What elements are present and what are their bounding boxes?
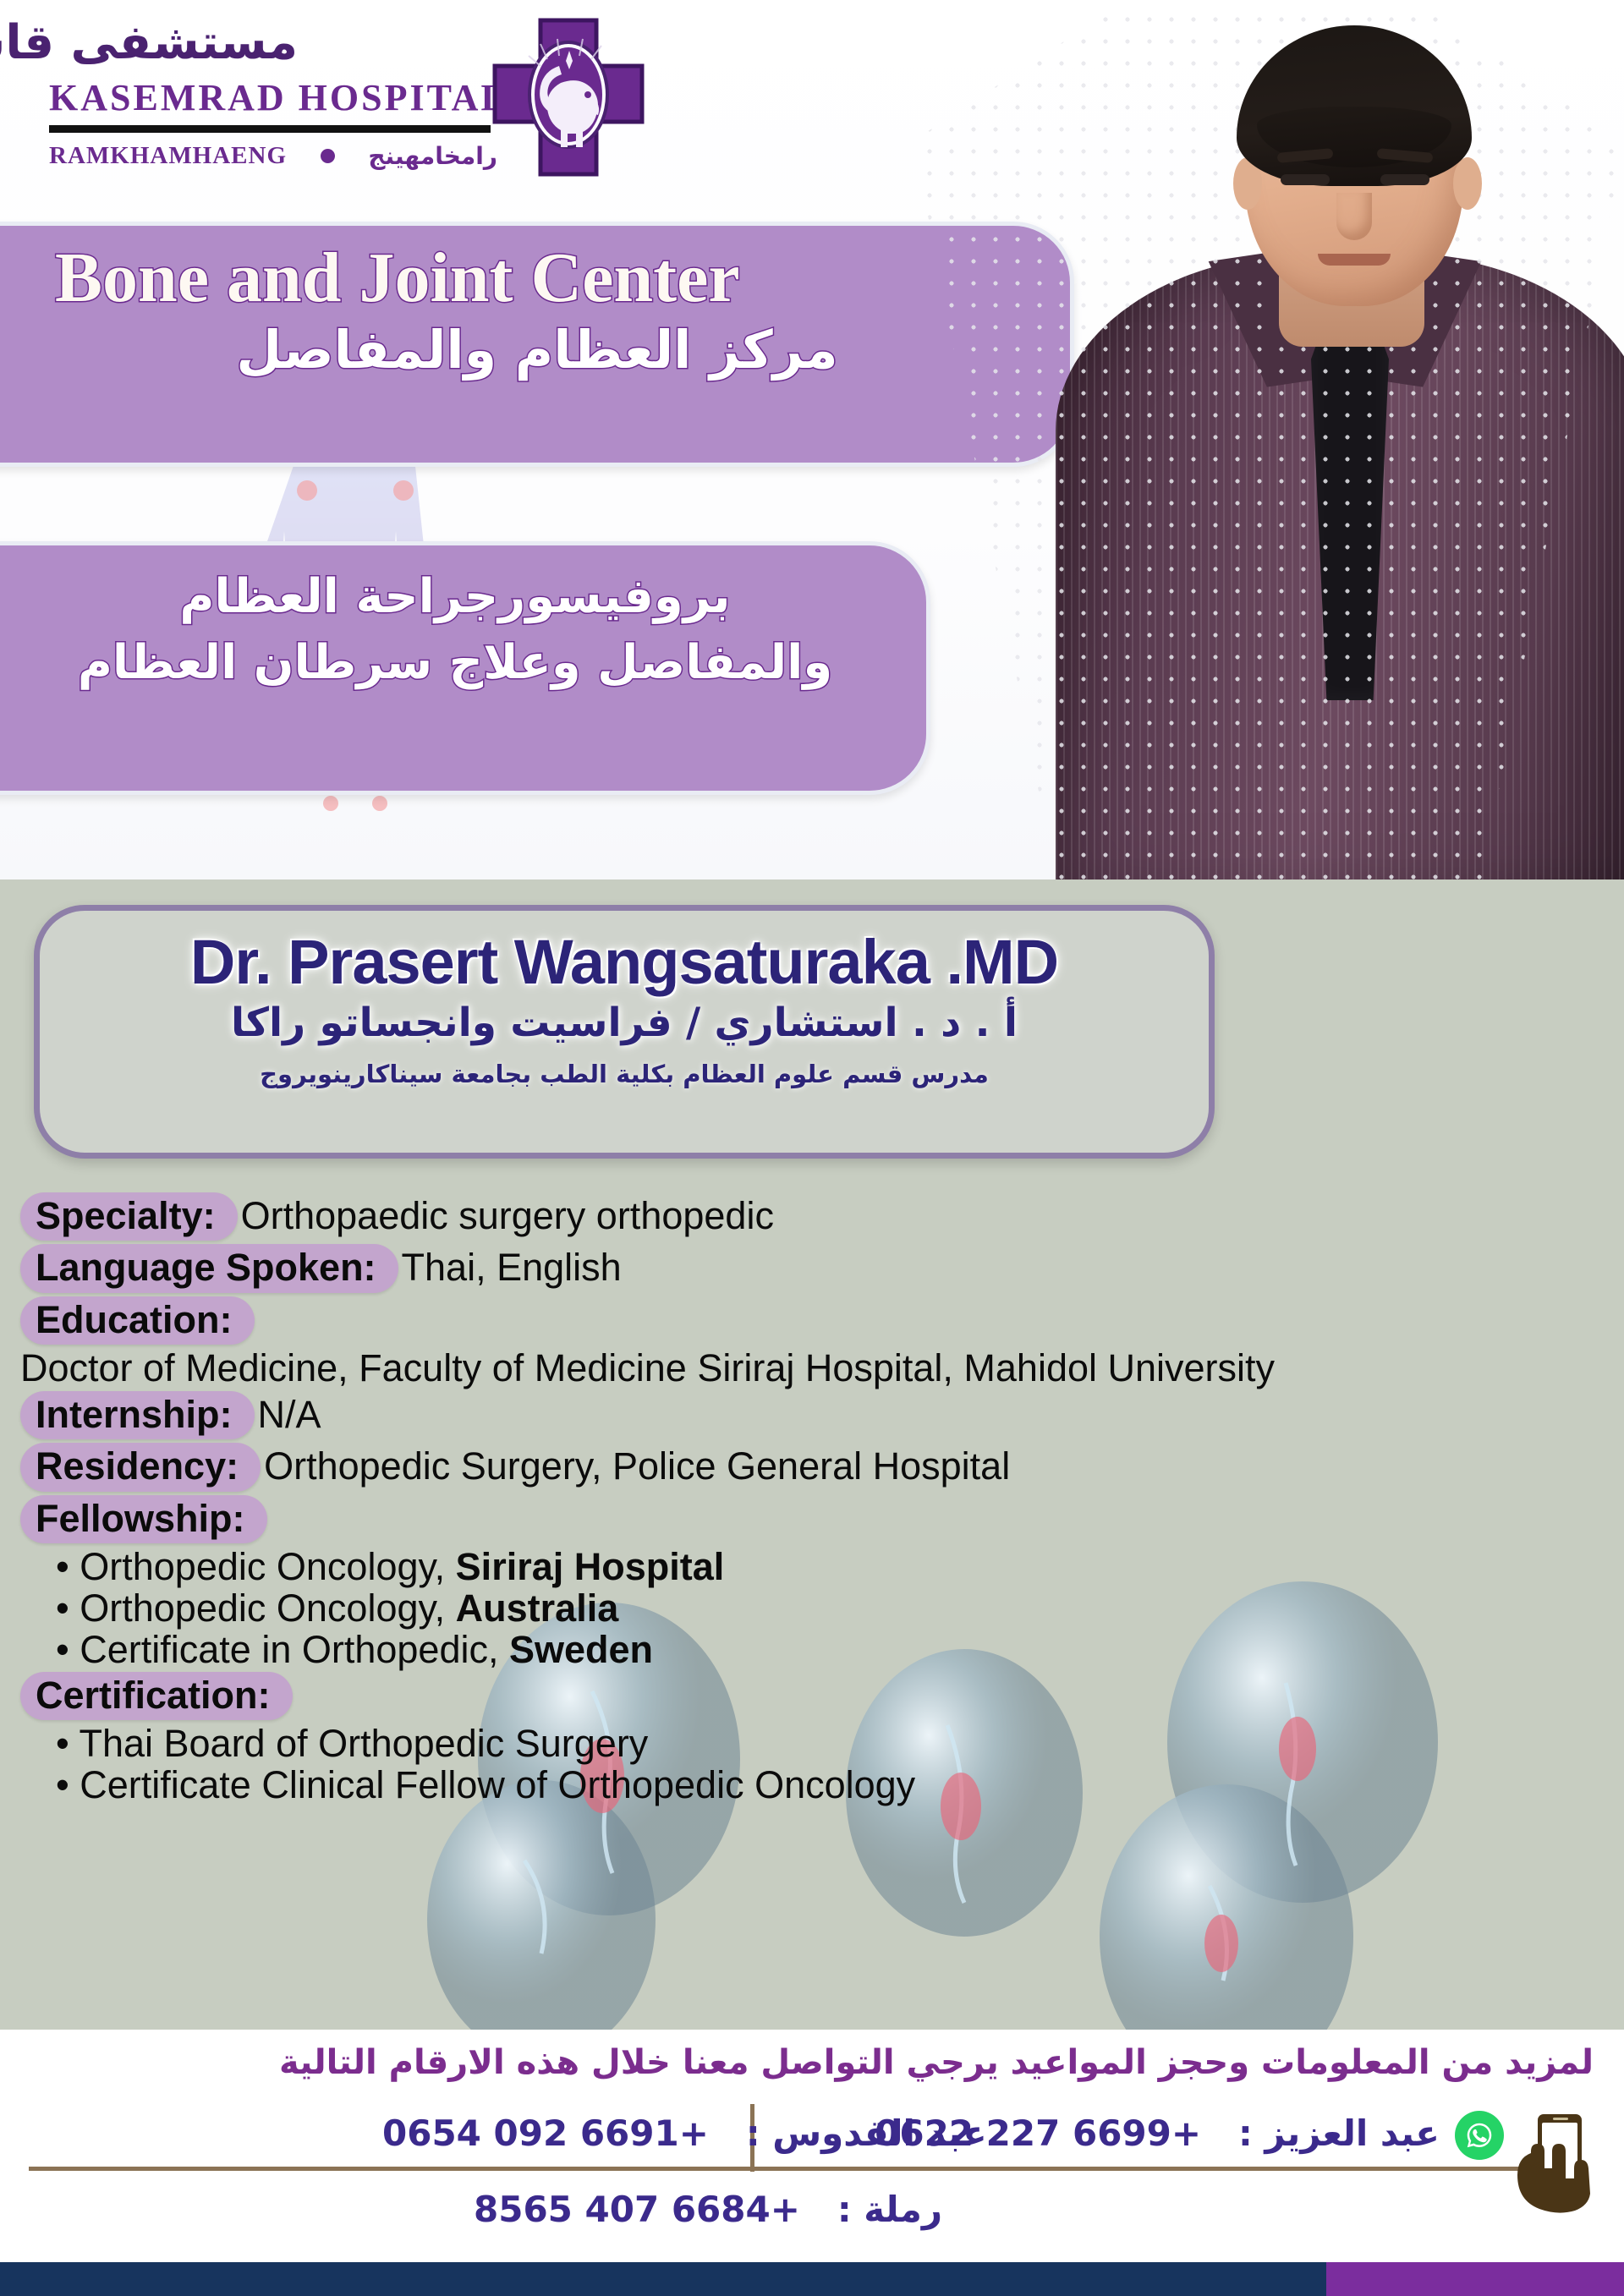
contact-2[interactable]: عبد القدوس : +6691 092 0654 (382, 2112, 987, 2154)
doctor-portrait-photo (913, 0, 1624, 879)
bullet-dot-icon (321, 149, 335, 163)
education-label: Education: (20, 1296, 255, 1345)
language-value: Thai, English (402, 1246, 622, 1289)
contact-footer: لمزيد من المعلومات وحجز المواعيد يرجي ال… (0, 2030, 1624, 2262)
list-item: Orthopedic Oncology, Siriraj Hospital (56, 1547, 1619, 1586)
contact-2-name: عبد القدوس : (746, 2112, 987, 2154)
list-item-text: Certificate in Orthopedic, (80, 1628, 509, 1671)
logo-divider (49, 125, 491, 133)
credentials-section: Dr. Prasert Wangsaturaka .MD أ . د . است… (0, 879, 1624, 2030)
credentials-list: Specialty:Orthopaedic surgery orthopedic… (20, 1192, 1619, 1806)
center-title-arabic: مركز العظام والمفاصل (55, 317, 1019, 383)
list-item-text: Certificate Clinical Fellow of Orthopedi… (80, 1763, 915, 1806)
credential-specialty: Specialty:Orthopaedic surgery orthopedic (20, 1192, 1619, 1241)
doctor-name-plate: Dr. Prasert Wangsaturaka .MD أ . د . است… (34, 905, 1215, 1159)
credential-internship: Internship:N/A (20, 1391, 1619, 1439)
center-subtitle-banner: بروفيسورجراحة العظام والمفاصل وعلاج سرطا… (0, 541, 930, 795)
whatsapp-icon[interactable] (1455, 2111, 1504, 2160)
hospital-name-arabic: مستشفى قاسم راض (0, 15, 298, 70)
footer-divider (29, 2167, 1560, 2171)
credential-education: Education: (20, 1296, 1619, 1345)
hero-section: مستشفى قاسم راض KASEMRAD HOSPITAL RAMKHA… (0, 0, 1624, 879)
doctor-affiliation-arabic: مدرس قسم علوم العظام بكلية الطب بجامعة س… (40, 1060, 1209, 1088)
contact-2-number[interactable]: +6691 092 0654 (382, 2112, 709, 2154)
language-label: Language Spoken: (20, 1244, 398, 1292)
residency-label: Residency: (20, 1443, 261, 1491)
list-item-emphasis: Siriraj Hospital (456, 1545, 725, 1588)
credential-certification: Certification: (20, 1672, 1619, 1720)
list-item: Thai Board of Orthopedic Surgery (56, 1723, 1619, 1763)
doctor-name-english: Dr. Prasert Wangsaturaka .MD (40, 926, 1209, 998)
hand-holding-phone-icon (1506, 2104, 1599, 2231)
hospital-name-english: KASEMRAD HOSPITAL (49, 76, 508, 119)
center-title-english: Bone and Joint Center (55, 241, 1019, 315)
certification-label: Certification: (20, 1672, 293, 1720)
hospital-branch-english: RAMKHAMHAENG (49, 142, 287, 170)
bottom-color-bar (0, 2262, 1624, 2296)
credential-residency: Residency:Orthopedic Surgery, Police Gen… (20, 1443, 1619, 1491)
credential-language: Language Spoken:Thai, English (20, 1244, 1619, 1292)
contact-1-name: عبد العزيز : (1238, 2112, 1440, 2154)
education-value: Doctor of Medicine, Faculty of Medicine … (20, 1348, 1619, 1388)
specialty-value: Orthopaedic surgery orthopedic (241, 1194, 774, 1237)
elephant-caduceus-cross-logo-icon (488, 17, 649, 178)
internship-value: N/A (258, 1393, 321, 1436)
contact-3-name: رملة : (837, 2189, 942, 2230)
hospital-branch-arabic: رامخامهينج (368, 142, 497, 170)
internship-label: Internship: (20, 1391, 255, 1439)
footer-headline-arabic: لمزيد من المعلومات وحجز المواعيد يرجي ال… (279, 2043, 1594, 2082)
residency-value: Orthopedic Surgery, Police General Hospi… (264, 1444, 1010, 1488)
list-item-text: Thai Board of Orthopedic Surgery (79, 1722, 648, 1765)
certification-items: Thai Board of Orthopedic SurgeryCertific… (20, 1723, 1619, 1806)
credential-fellowship: Fellowship: (20, 1495, 1619, 1543)
hospital-logo: مستشفى قاسم راض KASEMRAD HOSPITAL RAMKHA… (27, 10, 704, 171)
contact-3-number[interactable]: +6684 407 8565 (474, 2189, 800, 2230)
contact-3[interactable]: رملة : +6684 407 8565 (474, 2189, 942, 2230)
list-item: Orthopedic Oncology, Australia (56, 1588, 1619, 1628)
center-subtitle-arabic-line1: بروفيسورجراحة العظام (38, 564, 872, 630)
bottom-bar-navy (0, 2262, 1326, 2296)
list-item-text: Orthopedic Oncology, (80, 1586, 455, 1630)
doctor-name-arabic: أ . د . استشاري / فراسيت وانجساتو راكا (40, 1000, 1209, 1046)
list-item-text: Orthopedic Oncology, (80, 1545, 455, 1588)
list-item: Certificate Clinical Fellow of Orthopedi… (56, 1765, 1619, 1805)
fellowship-items: Orthopedic Oncology, Siriraj HospitalOrt… (20, 1547, 1619, 1670)
list-item: Certificate in Orthopedic, Sweden (56, 1630, 1619, 1669)
bottom-bar-purple (1326, 2262, 1624, 2296)
specialty-label: Specialty: (20, 1192, 238, 1241)
list-item-emphasis: Australia (456, 1586, 619, 1630)
center-subtitle-arabic-line2: والمفاصل وعلاج سرطان العظام (38, 630, 872, 696)
list-item-emphasis: Sweden (509, 1628, 653, 1671)
fellowship-label: Fellowship: (20, 1495, 267, 1543)
